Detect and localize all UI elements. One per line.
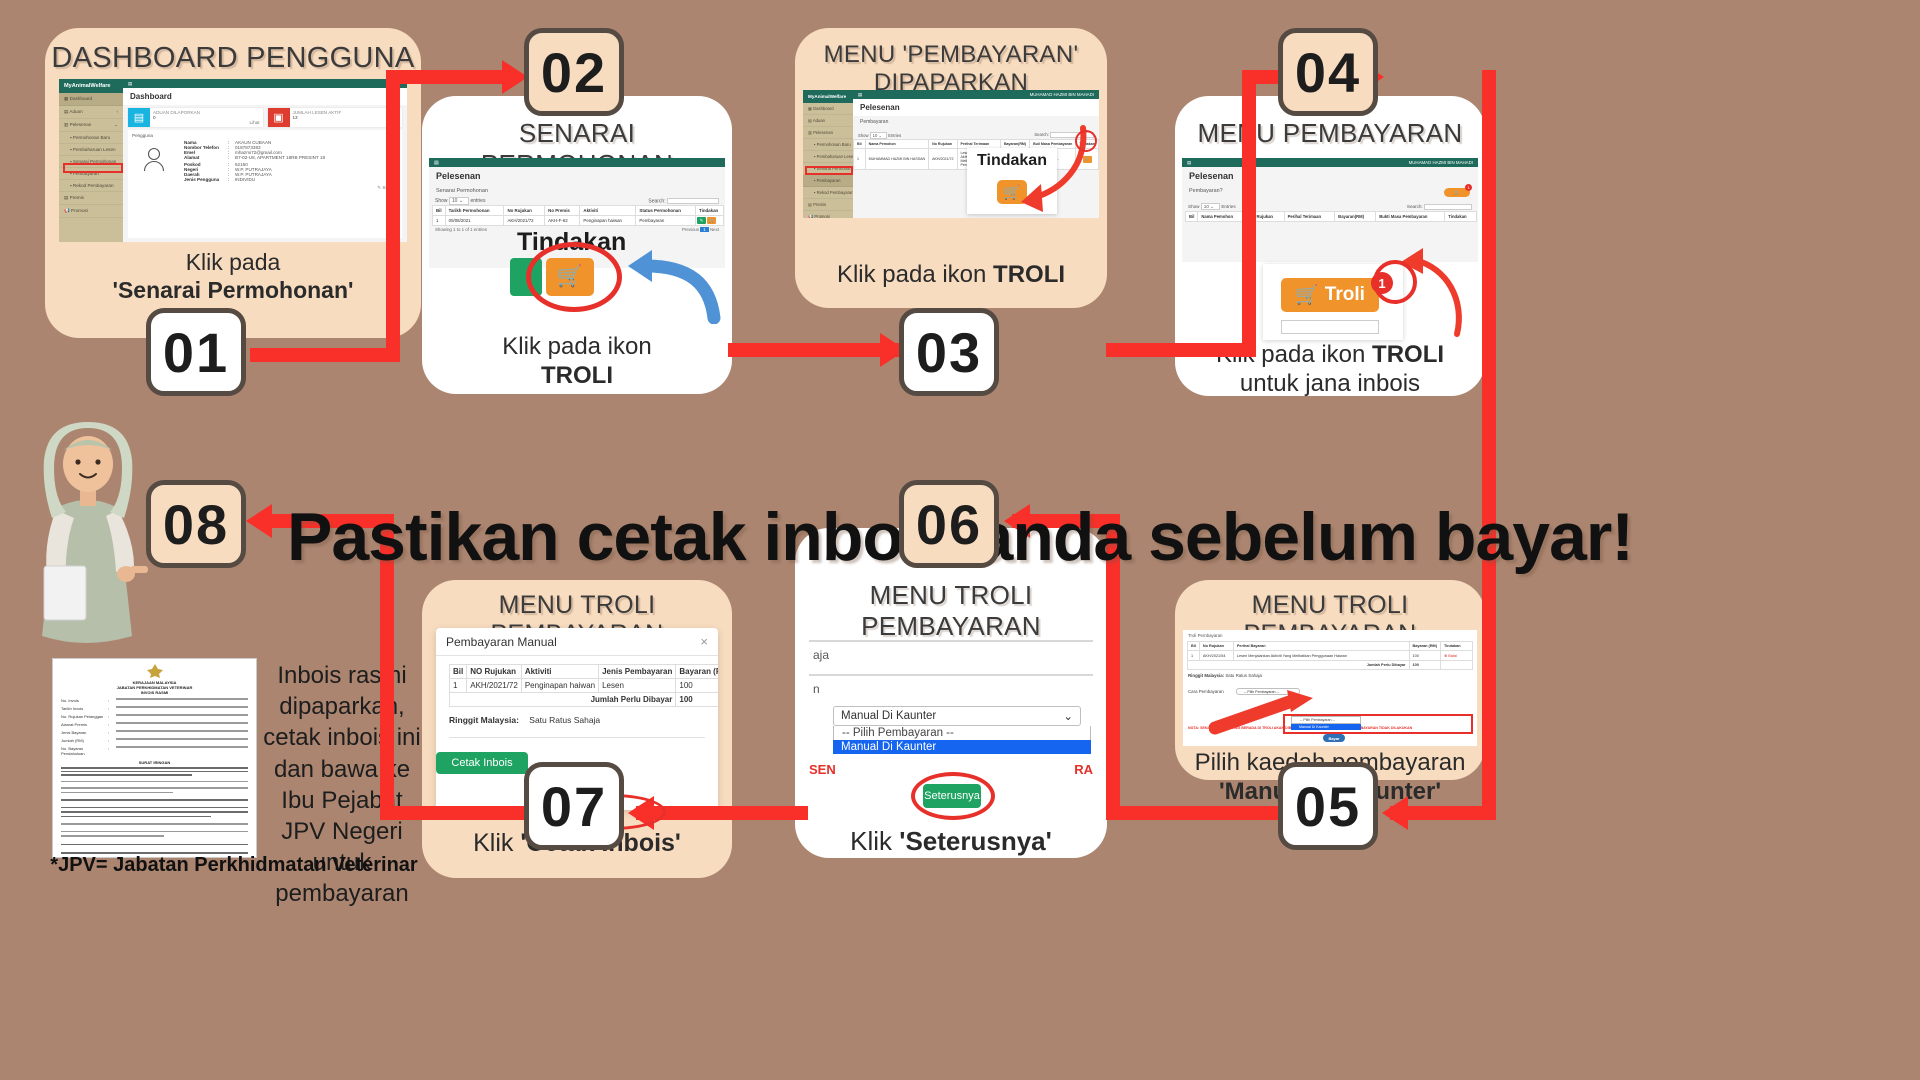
card-04-title: MENU PEMBAYARAN — [1175, 118, 1485, 149]
doc-crest — [53, 659, 256, 680]
connector-01-02-horizontal — [250, 348, 400, 362]
option-pilih[interactable]: -- Pilih Pembayaran -- — [833, 726, 1091, 740]
cart-icon[interactable]: 🛒 — [707, 217, 716, 224]
cell-bil: 1 — [433, 216, 446, 226]
sidebar-item-permohonan-baru[interactable]: ▪ Permohonan Baru — [59, 132, 123, 144]
col-no-rujukan: No Rujukan — [1199, 642, 1233, 651]
stat-value: 13 — [293, 115, 400, 120]
connector-01-02-vertical — [386, 70, 400, 362]
col-nama-pemohon: Nama Pemohon — [865, 140, 929, 149]
hamburger-icon[interactable]: ▤ — [858, 92, 862, 98]
chevron-down-icon: ⌄ — [1063, 709, 1073, 723]
cell-tarikh: 05/08/2021 — [445, 216, 504, 226]
modal-divider — [449, 737, 705, 738]
section-label: Pengguna — [132, 133, 398, 138]
card-06-caption: Klik 'Seterusnya' — [795, 826, 1107, 858]
highlight-pembayaran-menu — [805, 166, 853, 175]
entries-select[interactable]: 10 ⌄ — [1201, 203, 1220, 210]
col-bayaran: Bayaran(RM) — [1335, 212, 1376, 222]
breadcrumb: Senarai Permohonan — [429, 185, 725, 197]
pointer-arrow-red-4 — [1361, 246, 1469, 342]
sidebar-item-label: Pembaharuan Lesen — [817, 154, 853, 159]
table-header-row: Bil NO Rujukan Aktiviti Jenis Pembayaran… — [450, 665, 719, 679]
cell-no-premis: AKH-F-62 — [545, 216, 580, 226]
troli-button-label: Troli — [1325, 284, 1365, 306]
connector-05-06-horizontal — [1106, 806, 1278, 820]
col-jenis-pembayaran: Jenis Pembayaran — [599, 665, 676, 679]
ringgit-row: Ringgit Malaysia: Satu Ratus Sahaja — [449, 715, 705, 725]
col-perihal-bayaran: Perihal Bayaran — [1233, 642, 1409, 651]
connector-03-04-vertical — [1242, 70, 1256, 357]
card-02-senarai-permohonan: SENARAI PERMOHONAN ▤ Pelesenan Senarai P… — [422, 96, 732, 394]
entries-select[interactable]: 10 ⌄ — [449, 197, 469, 205]
sidebar-item-label: Rekod Pembayaran — [73, 183, 114, 188]
sidebar-item-label: Pembaharuan Lesen — [73, 147, 116, 152]
sidebar-item-pelesenan[interactable]: ▥ Pelesenan — [803, 127, 853, 139]
selected-value: Manual Di Kaunter — [841, 710, 936, 722]
card-03-title-line1: MENU 'PEMBAYARAN' — [795, 41, 1107, 69]
badge-07: 07 — [524, 762, 624, 850]
pointer-arrow-red — [971, 116, 1091, 221]
delete-action[interactable]: ⊗ Batal — [1441, 651, 1473, 661]
entries-value: 10 — [1204, 204, 1209, 209]
warning-note-left: SEN — [809, 762, 836, 777]
card-01-caption-line1: Klik pada — [45, 248, 421, 276]
sidebar-item-label: Permohonan Baru — [73, 135, 110, 140]
breadcrumb: Troli Pembayaran — [1183, 630, 1477, 641]
sidebar-item-label: Aduan — [813, 118, 825, 123]
col-status: Status Permohonan — [636, 206, 696, 216]
card-06-title: MENU TROLI PEMBAYARAN — [795, 580, 1107, 642]
page-title: Dashboard — [123, 88, 407, 105]
cell-jenis: Lesen — [599, 679, 676, 693]
card-06-caption-pre: Klik — [850, 826, 899, 856]
sidebar-item-premis[interactable]: ▤ Premis — [803, 199, 853, 211]
badge-01: 01 — [146, 308, 246, 396]
search-control[interactable]: Search: — [1407, 204, 1472, 210]
cell-aktiviti: Penginapan haiwan — [580, 216, 636, 226]
prev-page[interactable]: Previous — [682, 227, 699, 232]
invoice-document: KERAJAAN MALAYSIA JABATAN PERKHIDMATAN V… — [52, 658, 257, 858]
total-label: Jumlah Perlu Dibayar — [1188, 661, 1410, 670]
app-brand: MyAnimalWelfare — [59, 79, 123, 93]
app-sidebar: MyAnimalWelfare ▦ Dashboard ▤ Aduan ▥ Pe… — [803, 90, 853, 218]
entries-label: Entries — [888, 133, 901, 138]
ringgit-label: Ringgit Malaysia: — [1188, 673, 1224, 678]
cell-nama: MUHAMMAD HAZMI BIN HASSAN — [865, 149, 929, 170]
cell-no-rujukan: AKH/2021/72 — [467, 679, 522, 693]
pagination[interactable]: Previous 1 Next — [682, 227, 719, 232]
cell-aktiviti: Penginapan haiwan — [521, 679, 598, 693]
entries-value: 10 — [452, 198, 458, 204]
sidebar-item-promosi[interactable]: 📢 Promosi — [803, 211, 853, 218]
col-tindakan: Tindakan — [1445, 212, 1477, 222]
cart-table: Bil No Rujukan Perihal Bayaran Bayaran (… — [1187, 641, 1473, 670]
footnote: *JPV= Jabatan Perkhidmatan Veterinar — [44, 854, 424, 877]
table-footer: Showing 1 to 1 of 1 entries — [435, 227, 487, 232]
show-label: Show — [1188, 204, 1200, 209]
doc-field-label: Jenis Bayaran — [61, 730, 105, 735]
show-entries-control[interactable]: Show 10 ⌄ Entries — [858, 133, 901, 138]
table-row: 1 AKH/2021/54 Lesen Menjalankan Aktiviti… — [1188, 651, 1473, 661]
close-icon[interactable]: × — [700, 634, 708, 649]
sidebar-item-permohonan-baru[interactable]: ▪ Permohonan Baru — [803, 139, 853, 151]
connector-07-08-horizontal — [380, 806, 528, 820]
card-03-caption-pre: Klik pada ikon — [837, 261, 993, 288]
ringgit-value: Satu Ratus Sahaja — [529, 715, 600, 725]
profile-fields: Nama:AKAUN CUBAAN Nombor Telefon:0187873… — [184, 140, 398, 191]
doc-field-label: Tarikh Invois — [61, 706, 105, 711]
col-bil: Bil — [854, 140, 866, 149]
user-profile-panel: Pengguna Nama:AKAUN CUBAAN Nombor Telefo… — [128, 130, 402, 238]
sidebar-item-label: Pembayaran — [817, 178, 841, 183]
sidebar-item-label: Permohonan Baru — [817, 142, 851, 147]
field-label: Jenis Pengguna — [184, 177, 228, 182]
stat-cards: ▤ ADUAN DILAPORKAN 0 Lihat ▣ JUMLAH LESE… — [123, 105, 407, 130]
sidebar-item-label: Rekod Pembayaran — [817, 190, 853, 195]
col-bil: Bil — [433, 206, 446, 216]
sidebar-item-aduan[interactable]: ▤ Aduan ‹ — [59, 106, 123, 119]
sidebar-item-label: Pelesenan — [813, 130, 833, 135]
entries-select[interactable]: 10 ⌄ — [870, 132, 887, 139]
option-manual-kaunter[interactable]: Manual Di Kaunter — [833, 740, 1091, 754]
field-hint-2: n — [813, 682, 820, 696]
doc-fields: No. Invois: Tarikh Invois: No. Rujukan P… — [53, 698, 256, 756]
cell-bayaran: 100 — [676, 679, 718, 693]
next-page[interactable]: Next — [710, 227, 719, 232]
breadcrumb: Pembayaran? — [1182, 185, 1478, 197]
stat-card-lesen: ▣ JUMLAH LESEN AKTIF 13 — [268, 108, 403, 127]
app-topbar: ▤ MUHAMAD HAZMI BIN MAHADI — [853, 90, 1099, 99]
cart-icon: 🛒 — [1295, 283, 1319, 307]
sidebar-item-label: Premis — [70, 195, 84, 200]
invoice-table: Bil NO Rujukan Aktiviti Jenis Pembayaran… — [449, 664, 718, 707]
connector-06-07 — [636, 806, 808, 820]
card-01-caption-line2: 'Senarai Permohonan' — [45, 276, 421, 304]
field-hint-1: aja — [813, 648, 829, 662]
col-tindakan: Tindakan — [696, 206, 724, 216]
modal-header: Pembayaran Manual × — [436, 628, 718, 656]
cart-icon-zoom[interactable]: 🛒 — [546, 258, 594, 296]
cell-bil: 1 — [854, 149, 866, 170]
col-aktiviti: Aktiviti — [580, 206, 636, 216]
sidebar-item-dashboard[interactable]: ▦ Dashboard — [803, 103, 853, 115]
search-control[interactable]: Search: — [648, 198, 719, 204]
card-05-troli-pembayaran: MENU TROLI PEMBAYARAN Troli Pembayaran B… — [1175, 580, 1485, 780]
user-name[interactable]: MUHAMAD HAZMI BIN MAHADI — [1030, 92, 1094, 97]
search-input[interactable] — [667, 198, 719, 204]
card-01-caption: Klik pada 'Senarai Permohonan' — [45, 248, 421, 304]
total-value: 100 — [676, 693, 718, 707]
cell-no-rujukan: AKH/2021/72 — [929, 149, 957, 170]
search-input[interactable] — [1424, 204, 1472, 210]
cell-no-rujukan: AKH/2021/72 — [504, 216, 545, 226]
doc-field-label: No. Rujukan Pelanggan — [61, 714, 105, 719]
table-row: 1 05/08/2021 AKH/2021/72 AKH-F-62 Pengin… — [433, 216, 724, 226]
card-06-troli-pembayaran: MENU TROLI PEMBAYARAN aja n Manual Di Ka… — [795, 528, 1107, 858]
sidebar-item-pembayaran[interactable]: ▪ Pembayaran — [803, 175, 853, 187]
table-header-row: Bil No Rujukan Perihal Bayaran Bayaran (… — [1188, 642, 1473, 651]
card-01-title: DASHBOARD PENGGUNA — [45, 42, 421, 75]
show-entries-control[interactable]: Show 10 ⌄ Entries — [1188, 204, 1236, 210]
modal-title: Pembayaran Manual — [446, 635, 557, 649]
doc-section-title: SURAT IRINGAN — [53, 760, 256, 765]
sidebar-item-aduan[interactable]: ▤ Aduan — [803, 115, 853, 127]
entries-value: 10 — [873, 133, 878, 138]
doc-field-label: No. Invois — [61, 698, 105, 703]
badge-03: 03 — [899, 308, 999, 396]
connector-02-03 — [728, 343, 900, 357]
sidebar-item-pembaharuan-lesen[interactable]: ▪ Pembaharuan Lesen — [803, 151, 853, 163]
payment-method-select[interactable]: Manual Di Kaunter⌄ — [833, 706, 1081, 726]
submit-bayar-button[interactable]: Bayar — [1323, 734, 1345, 742]
page-1[interactable]: 1 — [700, 227, 708, 232]
doc-field-label: Jumlah (RM) — [61, 738, 105, 743]
col-bayaran: Bayaran (RM) — [676, 665, 718, 679]
show-label: Show — [435, 198, 448, 204]
entries-label: entries — [470, 198, 485, 204]
badge-04: 04 — [1278, 28, 1378, 116]
col-nama-pemohon: Nama Pemohon — [1198, 212, 1246, 222]
chevron-left-icon: ‹ — [116, 109, 118, 114]
sidebar-item-rekod-pembayaran[interactable]: ▪ Rekod Pembayaran — [59, 180, 123, 192]
sidebar-item-label: Dashboard — [813, 106, 834, 111]
doc-body-lines — [53, 767, 256, 858]
search-label: Search: — [648, 198, 665, 204]
connector-03-04-horizontal — [1106, 343, 1256, 357]
stat-card-aduan: ▤ ADUAN DILAPORKAN 0 Lihat — [128, 108, 263, 127]
sidebar-item-label: Aduan — [69, 109, 82, 114]
stat-link[interactable]: Lihat — [153, 120, 260, 125]
show-entries-control[interactable]: Show 10 ⌄ entries — [435, 198, 485, 204]
total-label: Jumlah Perlu Dibayar — [450, 693, 676, 707]
col-no-rujukan: NO Rujukan — [467, 665, 522, 679]
app-brand: MyAnimalWelfare — [803, 90, 853, 103]
col-no-premis: No Premis — [545, 206, 580, 216]
card-07-caption-pre: Klik — [473, 829, 520, 857]
badge-02: 02 — [524, 28, 624, 116]
sidebar-item-rekod-pembayaran[interactable]: ▪ Rekod Pembayaran — [803, 187, 853, 199]
seterusnya-button[interactable]: Seterusnya — [923, 784, 981, 808]
field-value: INDIVIDU — [235, 177, 398, 182]
sidebar-item-pelesenan[interactable]: ▥ Pelesenan ⌄ — [59, 119, 123, 132]
app-topbar: ▤ — [429, 158, 725, 167]
card-01-dashboard: DASHBOARD PENGGUNA MyAnimalWelfare ▦ Das… — [45, 28, 421, 338]
cell-no-rujukan: AKH/2021/54 — [1199, 651, 1233, 661]
card-03-caption-bold: TROLI — [993, 261, 1065, 288]
card-04-caption-bold: TROLI — [1372, 341, 1444, 368]
sidebar-item-pembaharuan-lesen[interactable]: ▪ Pembaharuan Lesen — [59, 144, 123, 156]
payment-method-dropdown[interactable]: -- Pilih Pembayaran -- Manual Di Kaunter — [833, 726, 1091, 754]
warning-note-right: RA — [1074, 762, 1093, 777]
cell-status: Pembayaran — [636, 216, 696, 226]
ringgit-value: Satu Ratus Sahaja — [1225, 673, 1262, 678]
app-screenshot-dashboard: MyAnimalWelfare ▦ Dashboard ▤ Aduan ‹ ▥ … — [59, 79, 407, 242]
field-value: B7-02-U8, APARTMENT 18RB PRESINT 18 — [235, 155, 398, 162]
payment-table-4: Bil Nama Pemohon No Rujukan Perihal Teri… — [1185, 211, 1477, 222]
callout-tindakan: Tindakan — [517, 228, 626, 257]
card-08-invois-rasmi: KERAJAAN MALAYSIA JABATAN PERKHIDMATAN V… — [44, 648, 424, 878]
table-row: 1 AKH/2021/72 Penginapan haiwan Lesen 10… — [450, 679, 719, 693]
app-topbar: ▤ — [123, 79, 407, 88]
sidebar-item-dashboard[interactable]: ▦ Dashboard — [59, 93, 123, 106]
badge-08: 08 — [146, 480, 246, 568]
col-bil: Bil — [450, 665, 467, 679]
sidebar-item-premis[interactable]: ▤ Premis — [59, 192, 123, 205]
page-title: Pelesenan — [429, 167, 725, 185]
app-main-dashboard: ▤ Dashboard ▤ ADUAN DILAPORKAN 0 Lihat ▣ — [123, 79, 407, 242]
col-no-rujukan: No Rujukan — [504, 206, 545, 216]
col-tindakan: Tindakan — [1441, 642, 1473, 651]
cell-perihal: Lesen Menjalankan Aktiviti Yang Melibatk… — [1233, 651, 1409, 661]
entries-label: Entries — [1221, 204, 1235, 209]
id-card-icon: ▣ — [268, 108, 290, 127]
doc-header-3: INVOIS RASMI — [53, 690, 256, 695]
sidebar-item-label: Dashboard — [70, 96, 92, 101]
show-label: Show — [858, 133, 868, 138]
card-02-caption: Klik pada ikon TROLI — [422, 332, 732, 391]
table-total-row: Jumlah Perlu Dibayar 100 — [450, 693, 719, 707]
card-02-caption-line2: TROLI — [422, 361, 732, 390]
cetak-inbois-button[interactable]: Cetak Inbois — [436, 752, 528, 774]
highlight-dropdown-area — [1283, 714, 1473, 734]
doc-field-label: Alamat Premis — [61, 722, 105, 727]
col-bil: Bil — [1186, 212, 1198, 222]
total-value: 100 — [1409, 661, 1440, 670]
highlight-senarai-permohonan — [63, 163, 123, 173]
hamburger-icon[interactable]: ▤ — [128, 81, 132, 87]
page-title: Pelesenan — [1182, 167, 1478, 185]
sidebar-item-label: Pelesenan — [70, 122, 92, 127]
col-bayaran: Bayaran (RM) — [1409, 642, 1440, 651]
cell-bil: 1 — [1188, 651, 1200, 661]
edit-icon[interactable]: ✎ — [697, 217, 706, 224]
edit-button-zoom[interactable] — [510, 258, 542, 296]
table-header-row: Bil Nama Pemohon No Rujukan Perihal Teri… — [1186, 212, 1477, 222]
col-perihal-terimaan: Perihal Terimaan — [1284, 212, 1335, 222]
infographic-canvas: DASHBOARD PENGGUNA MyAnimalWelfare ▦ Das… — [0, 0, 1920, 1080]
cell-bil: 1 — [450, 679, 467, 693]
connector-01-02-top — [386, 70, 506, 84]
card-06-caption-bold: 'Seterusnya' — [899, 826, 1052, 856]
hamburger-icon[interactable]: ▤ — [434, 160, 439, 166]
col-aktiviti: Aktiviti — [521, 665, 598, 679]
card-02-caption-line1: Klik pada ikon — [422, 332, 732, 361]
edit-button[interactable]: ✎ Sunting — [184, 185, 398, 191]
sidebar-item-label: Premis — [813, 202, 826, 207]
hamburger-icon[interactable]: ▤ — [1187, 160, 1191, 166]
delete-label: Batal — [1448, 654, 1457, 658]
divider-top — [809, 640, 1093, 642]
field-label: Alamat — [184, 155, 228, 162]
doc-field-label: No. Bayaran Pendahuluan — [61, 746, 105, 756]
table-header-row: Bil Tarikh Permohonan No Rujukan No Prem… — [433, 206, 724, 216]
avatar — [132, 140, 176, 191]
ringgit-row: Ringgit Malaysia: Satu Ratus Sahaja — [1183, 670, 1477, 681]
card-04-caption-line2: untuk jana inbois — [1175, 369, 1485, 398]
table-total-row: Jumlah Perlu Dibayar 100 — [1188, 661, 1473, 670]
document-icon: ▤ — [128, 108, 150, 127]
card-03-caption: Klik pada ikon TROLI — [795, 260, 1107, 289]
divider-mid — [809, 674, 1093, 676]
search-label: Search: — [1407, 204, 1423, 209]
sidebar-item-label: Promosi — [814, 214, 829, 218]
user-name[interactable]: MUHAMAD HAZMI BIN MAHADI — [1409, 160, 1473, 165]
connector-04-05-vertical — [1482, 70, 1496, 820]
badge-06: 06 — [899, 480, 999, 568]
app-topbar: ▤ MUHAMAD HAZMI BIN MAHADI — [1182, 158, 1478, 167]
sidebar-item-promosi[interactable]: 📢 Promosi — [59, 205, 123, 218]
col-no-rujukan: No Rujukan — [929, 140, 957, 149]
col-bil: Bil — [1188, 642, 1200, 651]
applications-table: Bil Tarikh Permohonan No Rujukan No Prem… — [432, 205, 724, 226]
arrowhead-to-05 — [1382, 796, 1408, 830]
sidebar-item-label: Promosi — [71, 208, 88, 213]
cell-bayaran: 100 — [1409, 651, 1440, 661]
col-tarikh: Tarikh Permohonan — [445, 206, 504, 216]
ringgit-label: Ringgit Malaysia: — [449, 715, 519, 725]
app-sidebar: MyAnimalWelfare ▦ Dashboard ▤ Aduan ‹ ▥ … — [59, 79, 123, 242]
col-bukti-masa: Bukti Masa Pembayaran — [1376, 212, 1445, 222]
dropdown-shadow — [795, 756, 1107, 770]
arrowhead-to-07 — [628, 796, 654, 830]
cart-count-badge-small: 1 — [1465, 184, 1472, 191]
chevron-down-icon: ⌄ — [114, 122, 118, 128]
badge-05: 05 — [1278, 762, 1378, 850]
page-title: Pelesenan — [853, 99, 1099, 116]
card-03-menu-pembayaran: MENU 'PEMBAYARAN' DIPAPARKAN MyAnimalWel… — [795, 28, 1107, 308]
